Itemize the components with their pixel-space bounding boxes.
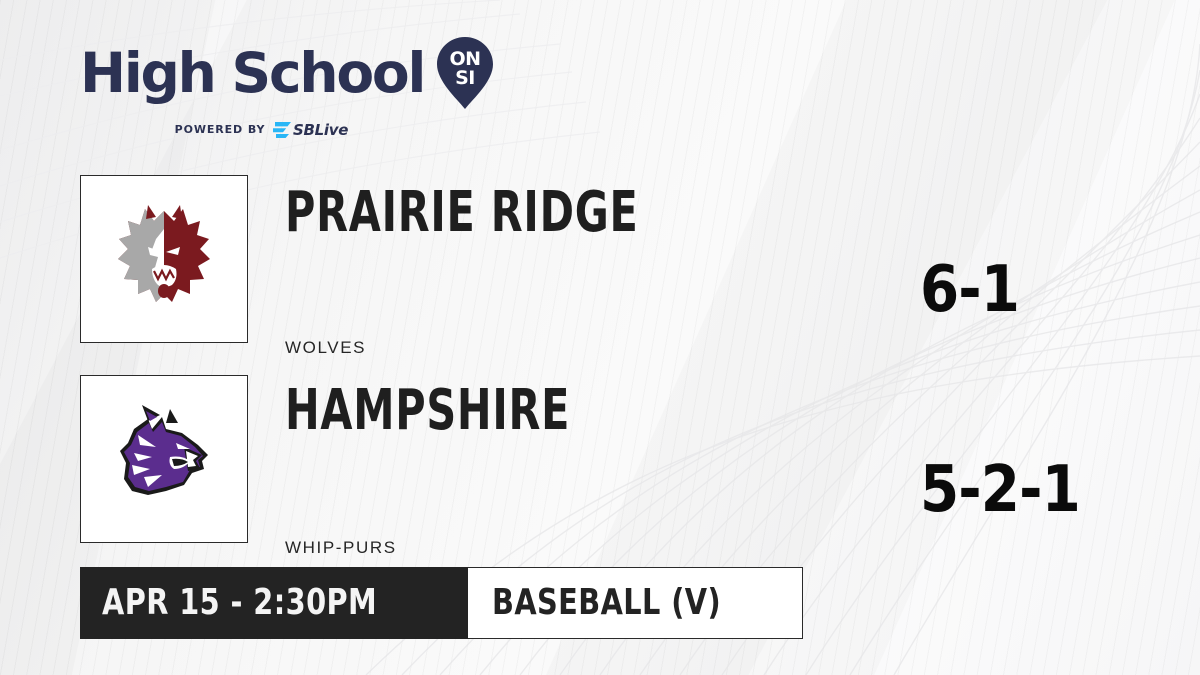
team-logo-box-home: [80, 175, 248, 343]
team-record-away: 5-2-1: [920, 458, 1080, 522]
event-datetime-text: APR 15 - 2:30PM: [102, 585, 377, 621]
team-name-away: HAMPSHIRE: [285, 383, 570, 439]
pin-text-si: SI: [455, 67, 475, 89]
team-record-home: 6-1: [920, 258, 1019, 322]
brand-wordmark-row: High School ON SI: [80, 36, 520, 110]
team-name-home: PRAIRIE RIDGE: [285, 185, 639, 241]
team-mascot-home: WOLVES: [285, 338, 366, 358]
event-info-bar: APR 15 - 2:30PM BASEBALL (V): [80, 567, 803, 639]
event-datetime-block: APR 15 - 2:30PM: [80, 567, 468, 639]
event-sport-text: BASEBALL (V): [492, 585, 721, 621]
matchup-graphic: High School ON SI POWERED BY SBLive: [0, 0, 1200, 675]
on-si-pin-icon: ON SI: [436, 36, 494, 110]
sblive-wordmark: SBLive: [293, 121, 348, 139]
wildcat-head-logo: [104, 399, 224, 519]
powered-by-label: POWERED BY: [175, 123, 266, 136]
sblive-logo: SBLive: [273, 119, 377, 139]
brand-header: High School ON SI POWERED BY SBLive: [80, 36, 520, 139]
team-logo-box-away: [80, 375, 248, 543]
wolf-head-logo: [104, 199, 224, 319]
brand-wordmark: High School: [80, 46, 424, 101]
event-sport-block: BASEBALL (V): [468, 567, 803, 639]
powered-by-row: POWERED BY SBLive: [80, 119, 520, 139]
team-mascot-away: WHIP-PURS: [285, 538, 397, 558]
